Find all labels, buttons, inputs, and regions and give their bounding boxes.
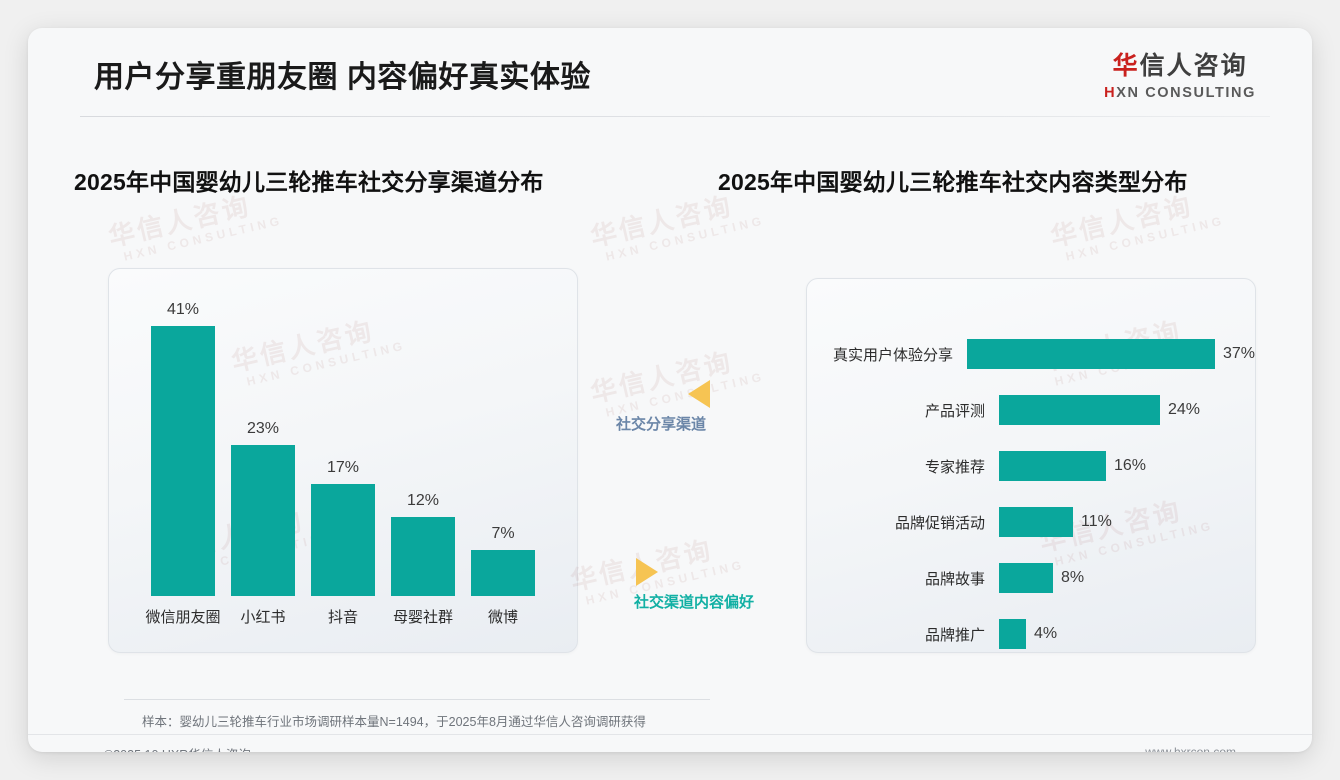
- sample-footnote: 样本：婴幼儿三轮推车行业市场调研样本量N=1494，于2025年8月通过华信人咨…: [142, 711, 646, 730]
- triangle-left-icon: [688, 380, 710, 408]
- watermark: 华信人咨询 HXN CONSULTING: [588, 341, 767, 423]
- social-share-channel-bar-chart: 41%微信朋友圈23%小红书17%抖音12%母婴社群7%微博: [109, 269, 577, 652]
- bar: 12%母婴社群: [391, 517, 455, 596]
- bar-value-label: 16%: [1114, 457, 1146, 475]
- bar-category-label: 微博: [455, 606, 551, 627]
- bar-category-label: 产品评测: [807, 400, 999, 421]
- watermark-en: HXN CONSULTING: [1064, 214, 1226, 264]
- logo-english-rest: XN CONSULTING: [1116, 85, 1256, 101]
- watermark-en: HXN CONSULTING: [604, 214, 766, 264]
- bar-column: 41%微信朋友圈: [151, 326, 215, 596]
- bar: [999, 451, 1106, 481]
- bar-value-label: 4%: [1034, 625, 1057, 643]
- bar-category-label: 品牌故事: [807, 568, 999, 589]
- bar-value-label: 23%: [231, 420, 295, 438]
- website-url[interactable]: www.hxrcon.com: [1145, 745, 1236, 752]
- header-divider: [80, 116, 1270, 117]
- bar-category-label: 真实用户体验分享: [807, 344, 967, 365]
- bar-value-label: 7%: [471, 525, 535, 543]
- brand-logo: 华信人咨询 HXN CONSULTING: [1104, 54, 1256, 101]
- bar: 41%微信朋友圈: [151, 326, 215, 596]
- logo-chinese-text: 华信人咨询: [1104, 54, 1256, 79]
- right-chart-card: 华信人咨询 HXN CONSULTING 华信人咨询 HXN CONSULTIN…: [806, 278, 1256, 653]
- bar-row: 专家推荐16%: [807, 451, 1255, 481]
- bar-category-label: 品牌推广: [807, 624, 999, 645]
- annotation-label: 社交分享渠道: [616, 413, 706, 434]
- right-chart-title: 2025年中国婴幼儿三轮推车社交内容类型分布: [718, 163, 1188, 197]
- logo-chinese-rest: 信人咨询: [1140, 52, 1248, 80]
- bar-column: 7%微博: [471, 550, 535, 596]
- copyright-text: ©2025.10 HXR华信人咨询: [104, 744, 251, 752]
- bar: 23%小红书: [231, 445, 295, 596]
- bar-row: 品牌推广4%: [807, 619, 1255, 649]
- logo-english-text: HXN CONSULTING: [1104, 86, 1256, 101]
- triangle-right-icon: [636, 558, 658, 586]
- watermark-en: HXN CONSULTING: [122, 214, 284, 264]
- footnote-divider: [124, 699, 710, 700]
- logo-char-hua: 华: [1113, 52, 1140, 80]
- bar-value-label: 41%: [151, 301, 215, 319]
- bar: 17%抖音: [311, 484, 375, 596]
- bar-row: 真实用户体验分享37%: [807, 339, 1255, 369]
- bar-column: 17%抖音: [311, 484, 375, 596]
- page-title: 用户分享重朋友圈 内容偏好真实体验: [94, 52, 591, 96]
- bar-value-label: 24%: [1168, 401, 1200, 419]
- bar-value-label: 11%: [1081, 513, 1112, 531]
- logo-char-h: H: [1104, 85, 1116, 101]
- bar-value-label: 12%: [391, 492, 455, 510]
- footer-divider: [28, 734, 1312, 735]
- bar-column: 23%小红书: [231, 445, 295, 596]
- bar-row: 品牌促销活动11%: [807, 507, 1255, 537]
- bar-row: 品牌故事8%: [807, 563, 1255, 593]
- bar: 7%微博: [471, 550, 535, 596]
- slide-canvas: 用户分享重朋友圈 内容偏好真实体验 华信人咨询 HXN CONSULTING 2…: [28, 28, 1312, 752]
- watermark-cn: 华信人咨询: [588, 341, 763, 409]
- social-content-type-bar-chart: 真实用户体验分享37%产品评测24%专家推荐16%品牌促销活动11%品牌故事8%…: [807, 301, 1255, 652]
- annotation-label: 社交渠道内容偏好: [634, 591, 754, 612]
- bar-category-label: 专家推荐: [807, 456, 999, 477]
- bar: [967, 339, 1215, 369]
- watermark: 华信人咨询 HXN CONSULTING: [106, 185, 285, 267]
- bar-row: 产品评测24%: [807, 395, 1255, 425]
- left-chart-title: 2025年中国婴幼儿三轮推车社交分享渠道分布: [74, 163, 544, 197]
- left-chart-card: 华信人咨询 HXN CONSULTING 华信人咨询 HXN CONSULTIN…: [108, 268, 578, 653]
- watermark: 华信人咨询 HXN CONSULTING: [1048, 185, 1227, 267]
- bar: [999, 563, 1053, 593]
- bar-value-label: 8%: [1061, 569, 1084, 587]
- bar: [999, 619, 1026, 649]
- slide-header: 用户分享重朋友圈 内容偏好真实体验 华信人咨询 HXN CONSULTING: [28, 28, 1312, 116]
- bar-value-label: 37%: [1223, 345, 1255, 363]
- watermark: 华信人咨询 HXN CONSULTING: [588, 185, 767, 267]
- bar-category-label: 品牌促销活动: [807, 512, 999, 533]
- bar: [999, 395, 1160, 425]
- bar: [999, 507, 1073, 537]
- bar-value-label: 17%: [311, 459, 375, 477]
- bar-column: 12%母婴社群: [391, 517, 455, 596]
